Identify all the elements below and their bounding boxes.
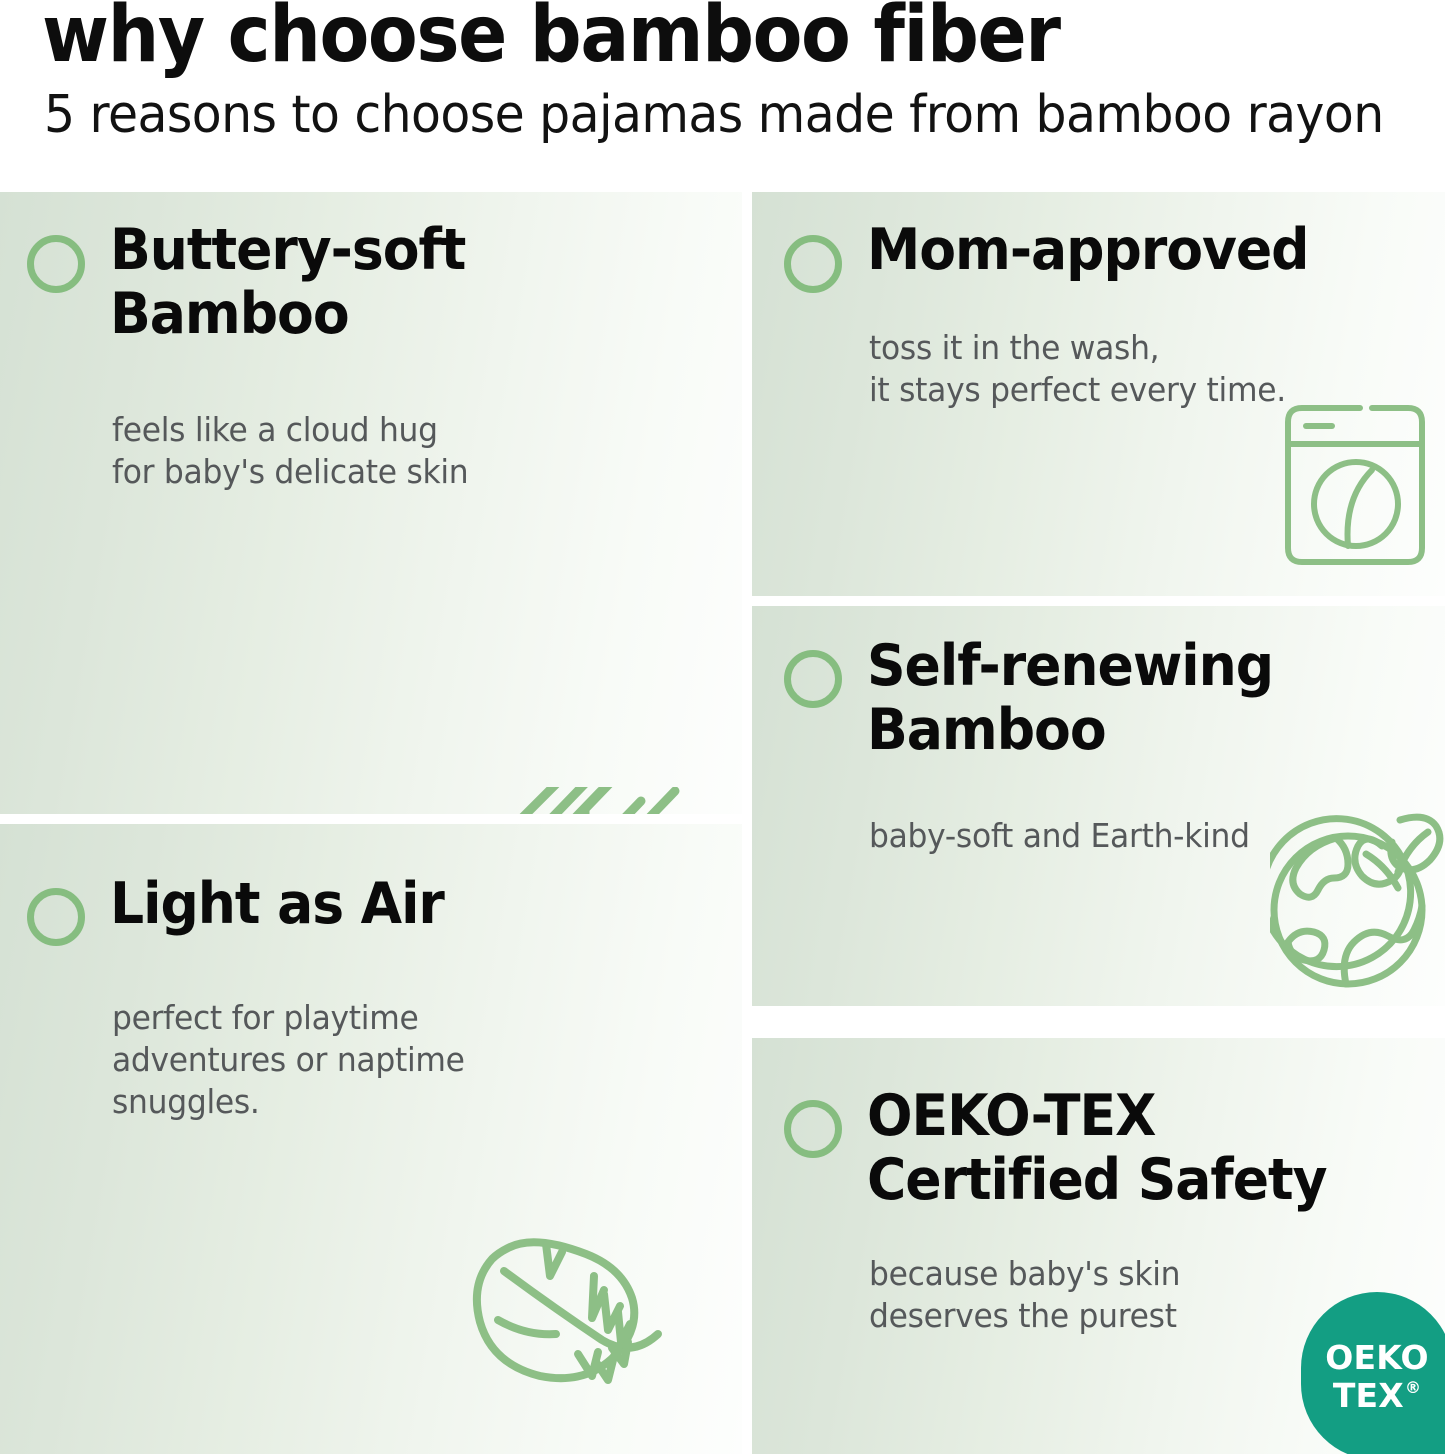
page-title: why choose bamboo fiber xyxy=(42,0,1060,74)
earth-leaf-icon xyxy=(1270,806,1445,994)
card-self-renewing-bamboo: Self-renewing Bamboo baby-soft and Earth… xyxy=(752,606,1445,1006)
oeko-badge-tex-text: TEX xyxy=(1333,1379,1404,1412)
card-oeko-tex-certified-safety: OEKO-TEX Certified Safety because baby's… xyxy=(752,1038,1445,1454)
oeko-tex-badge: OEKO TEX® xyxy=(1301,1292,1445,1454)
oeko-badge-line1: OEKO xyxy=(1325,1341,1429,1374)
infographic-page: why choose bamboo fiber 5 reasons to cho… xyxy=(0,0,1445,1454)
soft-hand-icon xyxy=(485,787,700,814)
card-subtitle: baby-soft and Earth-kind xyxy=(869,815,1250,857)
page-subtitle: 5 reasons to choose pajamas made from ba… xyxy=(44,88,1384,143)
bullet-circle-icon xyxy=(27,235,85,293)
card-subtitle: toss it in the wash, it stays perfect ev… xyxy=(869,327,1286,411)
registered-mark-icon: ® xyxy=(1405,1380,1421,1396)
card-title: Mom-approved xyxy=(867,218,1309,282)
washing-machine-icon xyxy=(1280,402,1432,568)
header: why choose bamboo fiber 5 reasons to cho… xyxy=(0,0,1445,192)
card-subtitle: feels like a cloud hug for baby's delica… xyxy=(112,409,468,493)
feather-icon xyxy=(462,1224,692,1424)
card-title: OEKO-TEX Certified Safety xyxy=(867,1084,1326,1213)
bullet-circle-icon xyxy=(784,650,842,708)
card-title: Self-renewing Bamboo xyxy=(867,634,1273,763)
card-title: Light as Air xyxy=(110,872,444,936)
card-title: Buttery-soft Bamboo xyxy=(110,218,465,347)
card-subtitle: perfect for playtime adventures or napti… xyxy=(112,997,465,1124)
card-buttery-soft-bamboo: Buttery-soft Bamboo feels like a cloud h… xyxy=(0,192,742,814)
card-mom-approved: Mom-approved toss it in the wash, it sta… xyxy=(752,192,1445,596)
bullet-circle-icon xyxy=(784,235,842,293)
card-subtitle: because baby's skin deserves the purest xyxy=(869,1253,1180,1337)
card-light-as-air: Light as Air perfect for playtime advent… xyxy=(0,824,742,1454)
oeko-badge-line2: TEX® xyxy=(1333,1379,1421,1412)
bullet-circle-icon xyxy=(27,888,85,946)
bullet-circle-icon xyxy=(784,1100,842,1158)
